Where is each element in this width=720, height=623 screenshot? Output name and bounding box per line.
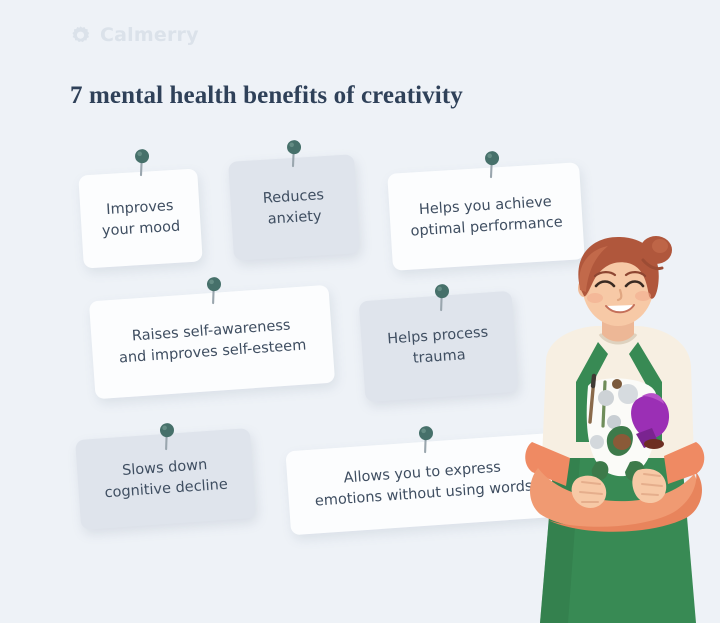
note-text: Improves your mood xyxy=(100,196,181,242)
brand-logo[interactable]: Calmerry xyxy=(70,24,199,46)
brand-name: Calmerry xyxy=(100,24,199,46)
infographic-canvas: Calmerry 7 mental health benefits of cre… xyxy=(0,0,720,623)
note-card-reduces-anxiety[interactable]: Reduces anxiety xyxy=(228,154,360,261)
note-text: Raises self-awareness and improves self-… xyxy=(117,315,307,369)
note-text: Helps you achieve optimal performance xyxy=(409,191,564,241)
note-text: Helps process trauma xyxy=(387,322,491,370)
illustration-smiling-woman-with-paint-pot xyxy=(510,236,720,623)
note-card-raises-self-awareness[interactable]: Raises self-awareness and improves self-… xyxy=(89,285,335,400)
gear-flower-icon xyxy=(70,25,91,46)
note-card-helps-process-trauma[interactable]: Helps process trauma xyxy=(359,291,519,402)
note-text: Allows you to express emotions without u… xyxy=(313,456,533,512)
page-title: 7 mental health benefits of creativity xyxy=(70,82,463,110)
note-card-improves-your-mood[interactable]: Improves your mood xyxy=(78,168,202,268)
note-text: Slows down cognitive decline xyxy=(103,454,229,504)
note-text: Reduces anxiety xyxy=(262,185,326,230)
note-card-slows-cognitive-decline[interactable]: Slows down cognitive decline xyxy=(75,428,256,530)
